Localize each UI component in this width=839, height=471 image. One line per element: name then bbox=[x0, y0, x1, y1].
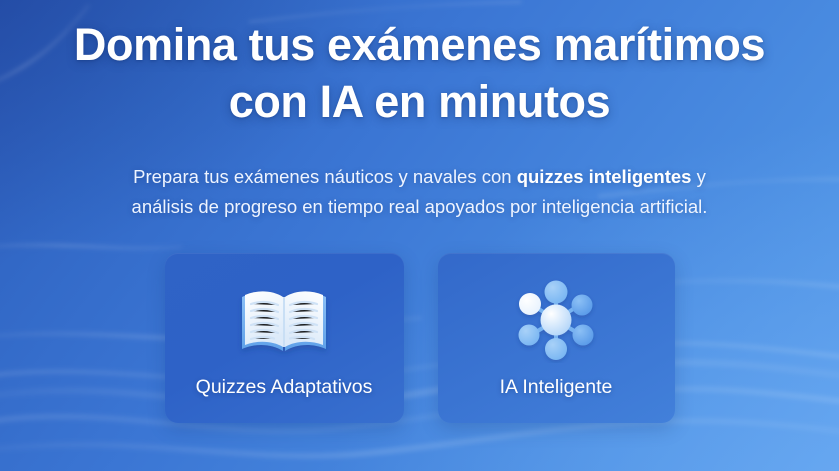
feature-card-ia[interactable]: IA Inteligente bbox=[438, 253, 675, 423]
feature-card-ia-label: IA Inteligente bbox=[438, 376, 675, 399]
subtitle-line-2: análisis de progreso en tiempo real apoy… bbox=[25, 192, 815, 222]
subtitle-line-1-after: y bbox=[691, 166, 705, 187]
neural-network-icon bbox=[510, 277, 602, 363]
subtitle-highlight: quizzes inteligentes bbox=[517, 166, 692, 187]
headline-line-2: con IA en minutos bbox=[20, 73, 820, 130]
subtitle-line-1-before: Prepara tus exámenes náuticos y navales … bbox=[133, 166, 517, 187]
open-book-icon bbox=[236, 277, 332, 363]
hero-content: Domina tus exámenes marítimos con IA en … bbox=[0, 0, 839, 471]
hero-subtitle: Prepara tus exámenes náuticos y navales … bbox=[25, 162, 815, 222]
feature-card-quizzes-label: Quizzes Adaptativos bbox=[165, 376, 404, 399]
feature-card-quizzes[interactable]: Quizzes Adaptativos bbox=[165, 253, 404, 423]
page-title: Domina tus exámenes marítimos con IA en … bbox=[20, 16, 820, 130]
feature-cards: Quizzes Adaptativos bbox=[165, 253, 675, 423]
hero-banner: Domina tus exámenes marítimos con IA en … bbox=[0, 0, 839, 471]
headline-line-1: Domina tus exámenes marítimos bbox=[74, 19, 765, 70]
